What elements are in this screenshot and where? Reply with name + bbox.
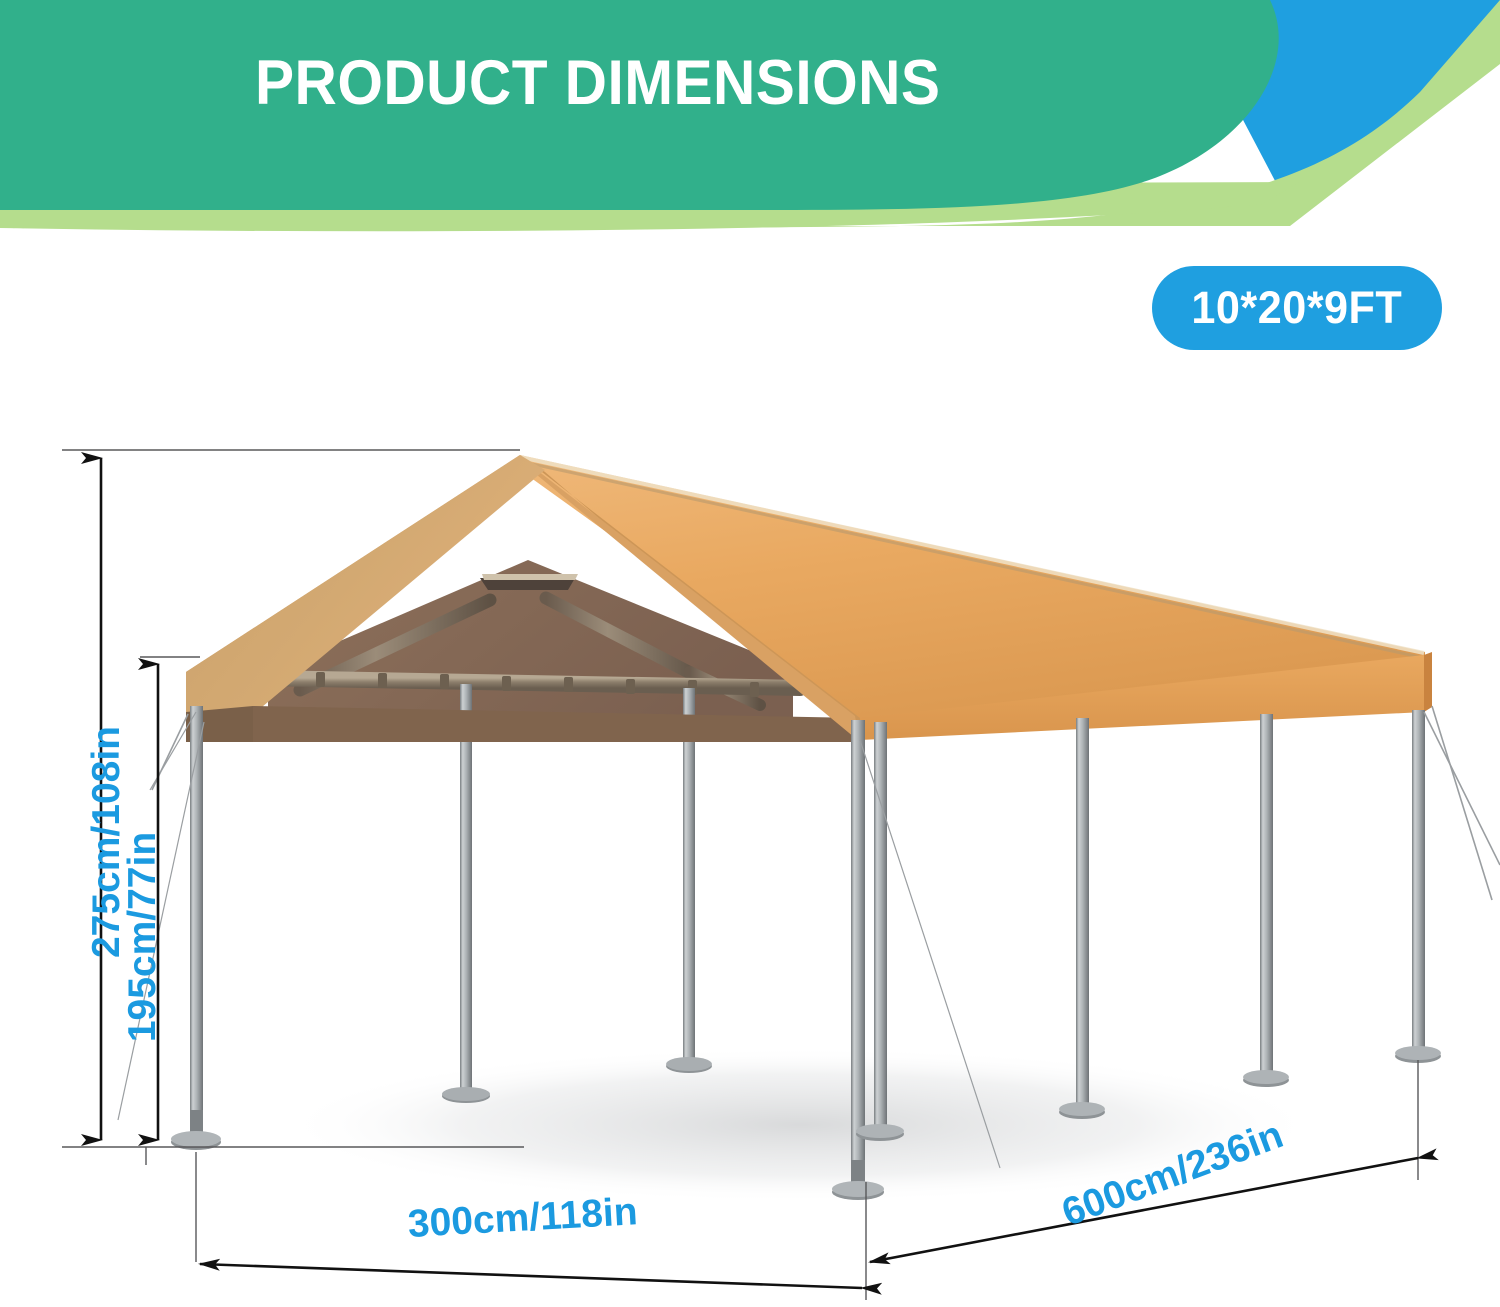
interior-legs — [442, 684, 712, 1103]
dimension-label-eave-height: 195cm/77in — [121, 822, 165, 1052]
leg-right-3 — [1260, 714, 1273, 1076]
ridge-vent-highlight — [482, 574, 578, 580]
infographic-canvas: PRODUCT DIMENSIONS 10*20*9FT — [0, 0, 1500, 1307]
eave-rail — [262, 678, 800, 688]
leg-right-4 — [1412, 710, 1425, 1052]
product-dimension-drawing — [0, 0, 1500, 1307]
leg-right-1 — [874, 722, 887, 1130]
canopy-corner-right — [1424, 652, 1432, 712]
leg-front-left — [190, 706, 203, 1138]
dimension-line-width — [200, 1264, 862, 1288]
leg-right-2 — [1076, 718, 1089, 1108]
leg-front-center — [851, 720, 865, 1188]
